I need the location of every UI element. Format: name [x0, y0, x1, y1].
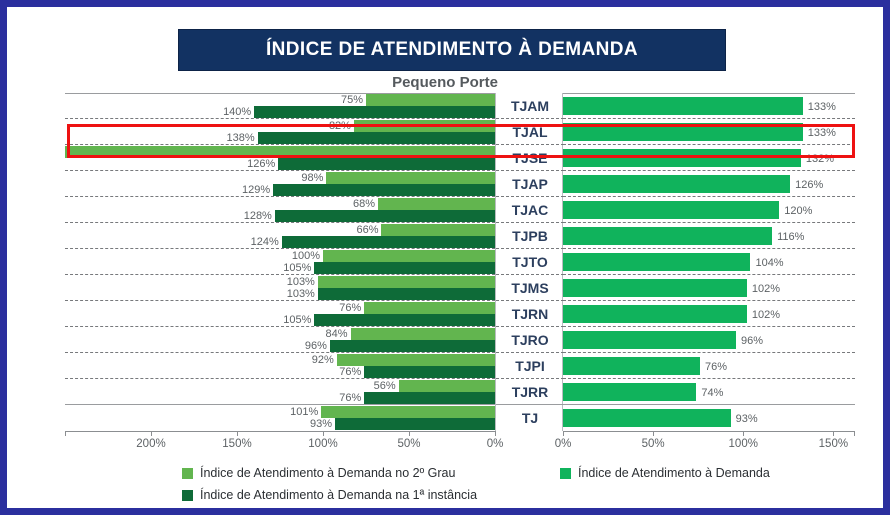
category-label-tjpi: TJPI	[496, 353, 564, 379]
row-separator-left	[65, 378, 495, 379]
bar-left-2grau	[65, 146, 495, 158]
bar-left-1instancia	[254, 106, 495, 118]
axis-tick-left	[495, 431, 496, 436]
legend-item-total: Índice de Atendimento à Demanda	[560, 466, 770, 480]
category-label-tjam: TJAM	[496, 93, 564, 119]
bar-right-total	[563, 149, 801, 167]
bar-left-1instancia	[335, 418, 495, 430]
row-separator-left	[65, 274, 495, 275]
value-label-left-1instancia: 93%	[310, 418, 332, 430]
row-separator-left	[65, 352, 495, 353]
bar-left-1instancia	[273, 184, 495, 196]
axis-tick-right-edge	[854, 431, 855, 436]
axis-tick-left	[409, 431, 410, 436]
row-separator-left	[65, 118, 495, 119]
chart-legend: Índice de Atendimento à Demanda no 2º Gr…	[7, 462, 890, 514]
axis-tick-right	[743, 431, 744, 436]
category-label-column: TJAMTJALTJSETJAPTJACTJPBTJTOTJMSTJRNTJRO…	[495, 93, 563, 431]
value-label-right-total: 133%	[808, 127, 836, 139]
row-separator-left	[65, 144, 495, 145]
value-label-left-1instancia: 96%	[305, 340, 327, 352]
row-separator-left	[65, 326, 495, 327]
legend-label-total: Índice de Atendimento à Demanda	[578, 466, 770, 480]
value-label-left-1instancia: 105%	[283, 262, 311, 274]
axis-tick-label-left-200: 200%	[136, 438, 165, 450]
value-label-left-1instancia: 138%	[227, 132, 255, 144]
value-label-right-total: 120%	[784, 205, 812, 217]
bar-left-1instancia	[330, 340, 495, 352]
bar-right-total	[563, 331, 736, 349]
row-separator-left	[65, 170, 495, 171]
value-label-left-2grau: 101%	[290, 406, 318, 418]
bar-left-1instancia	[314, 314, 495, 326]
bar-right-total	[563, 97, 803, 115]
bar-right-total	[563, 409, 731, 427]
bar-left-2grau	[399, 380, 495, 392]
right-x-axis: 0%50%100%150%	[563, 431, 855, 432]
bar-left-1instancia	[282, 236, 495, 248]
bar-left-2grau	[378, 198, 495, 210]
axis-tick-label-right-150: 150%	[819, 438, 848, 450]
category-label-tj: TJ	[496, 405, 564, 431]
value-label-left-2grau: 100%	[292, 250, 320, 262]
bar-left-1instancia	[364, 392, 495, 404]
axis-tick-right	[563, 431, 564, 436]
value-label-right-total: 74%	[701, 387, 723, 399]
value-label-left-1instancia: 76%	[339, 366, 361, 378]
page-title: ÍNDICE DE ATENDIMENTO À DEMANDA	[266, 39, 638, 61]
bar-left-1instancia	[278, 158, 495, 170]
bar-right-total	[563, 175, 790, 193]
axis-tick-right	[653, 431, 654, 436]
category-label-tjap: TJAP	[496, 171, 564, 197]
value-label-right-total: 133%	[808, 101, 836, 113]
value-label-right-total: 126%	[795, 179, 823, 191]
value-label-right-total: 132%	[806, 153, 834, 165]
bar-right-total	[563, 357, 700, 375]
chart-subtitle: Pequeno Porte	[7, 74, 883, 91]
row-separator-right	[563, 196, 855, 197]
value-label-right-total: 104%	[755, 257, 783, 269]
value-label-right-total: 102%	[752, 309, 780, 321]
axis-tick-label-right-100: 100%	[729, 438, 758, 450]
value-label-right-total: 116%	[777, 231, 804, 243]
bar-left-2grau	[321, 406, 495, 418]
value-label-left-2grau: 92%	[312, 354, 334, 366]
value-label-left-1instancia: 103%	[287, 288, 315, 300]
row-separator-right	[563, 144, 855, 145]
row-separator-right	[563, 274, 855, 275]
axis-tick-left-edge	[65, 431, 66, 436]
bar-left-2grau	[381, 224, 495, 236]
value-label-right-total: 102%	[752, 283, 780, 295]
axis-tick-label-left-0: 0%	[487, 438, 504, 450]
category-label-tjac: TJAC	[496, 197, 564, 223]
bar-left-1instancia	[258, 132, 495, 144]
value-label-left-2grau: 75%	[341, 94, 363, 106]
bar-left-2grau	[354, 120, 495, 132]
axis-tick-label-left-150: 150%	[222, 438, 251, 450]
category-label-tjto: TJTO	[496, 249, 564, 275]
bar-left-2grau	[337, 354, 495, 366]
row-separator-right	[563, 300, 855, 301]
axis-tick-left	[323, 431, 324, 436]
bar-right-total	[563, 227, 772, 245]
bar-left-2grau	[351, 328, 495, 340]
row-separator-right	[563, 378, 855, 379]
value-label-left-2grau: 103%	[287, 276, 315, 288]
bar-left-2grau	[364, 302, 495, 314]
axis-tick-left	[151, 431, 152, 436]
row-separator-left	[65, 248, 495, 249]
value-label-right-total: 93%	[736, 413, 758, 425]
value-label-right-total: 76%	[705, 361, 727, 373]
legend-item-2grau: Índice de Atendimento à Demanda no 2º Gr…	[182, 466, 455, 480]
chart-title-banner: ÍNDICE DE ATENDIMENTO À DEMANDA	[178, 29, 726, 71]
axis-tick-right	[833, 431, 834, 436]
value-label-left-1instancia: 76%	[339, 392, 361, 404]
left-x-axis: 200%150%100%50%0%	[65, 431, 495, 432]
bar-right-total	[563, 383, 696, 401]
bar-left-2grau	[318, 276, 495, 288]
bar-left-1instancia	[318, 288, 495, 300]
left-plot-area: 75%140%82%138%126%98%129%68%128%66%124%1…	[65, 93, 495, 431]
legend-swatch-2grau	[182, 468, 193, 479]
value-label-left-1instancia: 129%	[242, 184, 270, 196]
legend-swatch-1instancia	[182, 490, 193, 501]
right-plot-area: 133%133%132%126%120%116%104%102%102%96%7…	[563, 93, 855, 431]
axis-tick-label-right-0: 0%	[555, 438, 572, 450]
bar-right-total	[563, 123, 803, 141]
value-label-left-2grau: 98%	[301, 172, 323, 184]
bar-left-1instancia	[314, 262, 495, 274]
value-label-left-1instancia: 124%	[251, 236, 279, 248]
category-label-tjrr: TJRR	[496, 379, 564, 405]
row-separator-left	[65, 222, 495, 223]
row-separator-right	[563, 118, 855, 119]
legend-label-2grau: Índice de Atendimento à Demanda no 2º Gr…	[200, 466, 455, 480]
value-label-left-1instancia: 140%	[223, 106, 251, 118]
row-separator-right	[563, 352, 855, 353]
axis-tick-label-left-100: 100%	[308, 438, 337, 450]
row-separator-left	[65, 196, 495, 197]
diverging-bar-chart: 75%140%82%138%126%98%129%68%128%66%124%1…	[7, 93, 890, 445]
bar-left-2grau	[366, 94, 495, 106]
value-label-left-1instancia: 126%	[247, 158, 275, 170]
row-separator-right	[563, 170, 855, 171]
legend-item-1instancia: Índice de Atendimento à Demanda na 1ª in…	[182, 488, 477, 502]
row-separator-right	[563, 222, 855, 223]
category-label-tjse: TJSE	[496, 145, 564, 171]
bar-left-2grau	[326, 172, 495, 184]
value-label-left-1instancia: 128%	[244, 210, 272, 222]
category-label-tjro: TJRO	[496, 327, 564, 353]
category-label-tjal: TJAL	[496, 119, 564, 145]
value-label-left-2grau: 84%	[326, 328, 348, 340]
legend-label-1instancia: Índice de Atendimento à Demanda na 1ª in…	[200, 488, 477, 502]
value-label-left-2grau: 76%	[339, 302, 361, 314]
bar-right-total	[563, 253, 750, 271]
legend-swatch-total	[560, 468, 571, 479]
value-label-left-2grau: 56%	[374, 380, 396, 392]
value-label-right-total: 96%	[741, 335, 763, 347]
axis-tick-label-left-50: 50%	[397, 438, 420, 450]
value-label-left-2grau: 68%	[353, 198, 375, 210]
axis-tick-label-right-50: 50%	[642, 438, 665, 450]
bar-right-total	[563, 305, 747, 323]
bar-left-2grau	[323, 250, 495, 262]
value-label-left-1instancia: 105%	[283, 314, 311, 326]
row-separator-right	[563, 326, 855, 327]
row-separator-right	[563, 404, 855, 405]
row-separator-left	[65, 300, 495, 301]
bar-left-1instancia	[364, 366, 495, 378]
row-separator-right	[563, 248, 855, 249]
row-separator-left	[65, 404, 495, 405]
bar-right-total	[563, 279, 747, 297]
bar-left-1instancia	[275, 210, 495, 222]
category-label-tjms: TJMS	[496, 275, 564, 301]
value-label-left-2grau: 66%	[356, 224, 378, 236]
axis-tick-left	[237, 431, 238, 436]
report-frame: ÍNDICE DE ATENDIMENTO À DEMANDA Pequeno …	[0, 0, 890, 515]
bar-right-total	[563, 201, 779, 219]
value-label-left-2grau: 82%	[329, 120, 351, 132]
category-label-tjrn: TJRN	[496, 301, 564, 327]
category-label-tjpb: TJPB	[496, 223, 564, 249]
